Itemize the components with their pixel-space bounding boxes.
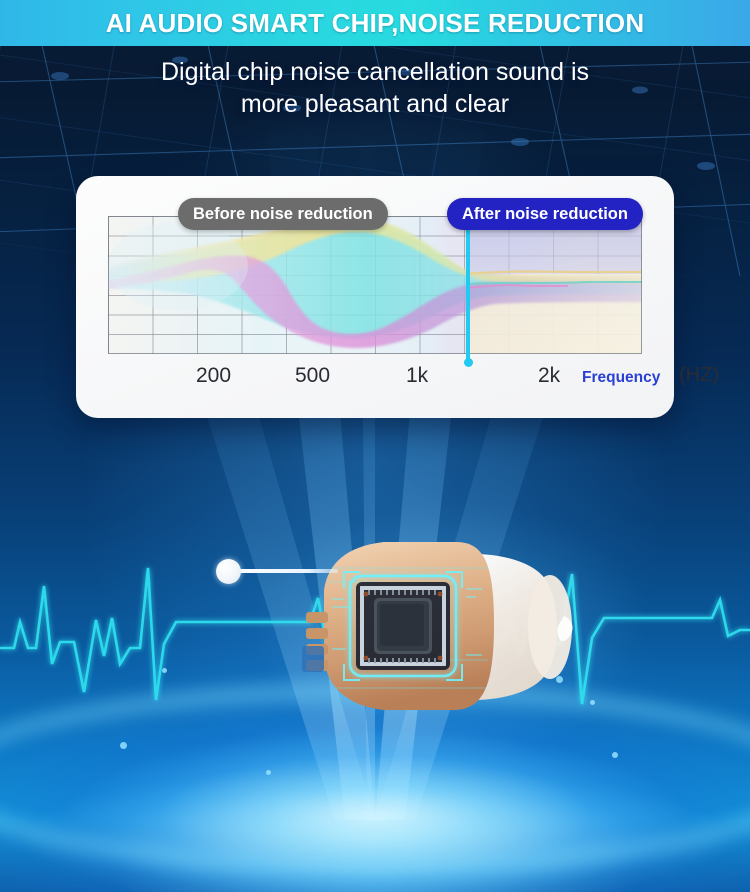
callout-line: [238, 569, 338, 573]
plot-border: [108, 216, 642, 354]
promo-banner: AI AUDIO SMART CHIP,NOISE REDUCTION Digi…: [0, 0, 750, 892]
subtitle-line-1: Digital chip noise cancellation sound is: [0, 56, 750, 88]
callout-dot: [216, 559, 241, 584]
subtitle-line-2: more pleasant and clear: [0, 88, 750, 120]
page-title: AI AUDIO SMART CHIP,NOISE REDUCTION: [106, 8, 645, 39]
badge-before-noise-reduction: Before noise reduction: [178, 198, 388, 230]
axis-tick-1k: 1k: [406, 364, 428, 388]
hearing-aid-device: [288, 528, 600, 724]
podium-ring-inner: [25, 774, 725, 892]
axis-tick-500: 500: [295, 364, 330, 388]
axis-frequency-label: Frequency: [582, 369, 660, 387]
noise-reduction-divider: [466, 210, 470, 362]
axis-tick-2k: 2k: [538, 364, 560, 388]
sparkle-dot: [120, 742, 127, 749]
axis-unit-label: (HZ): [679, 364, 719, 387]
x-axis-labels: 200 500 1k 2k Frequency (HZ): [76, 364, 674, 398]
sparkle-dot: [162, 668, 167, 673]
sparkle-dot: [612, 752, 618, 758]
axis-tick-200: 200: [196, 364, 231, 388]
badge-after-noise-reduction: After noise reduction: [447, 198, 643, 230]
header-bar: AI AUDIO SMART CHIP,NOISE REDUCTION: [0, 0, 750, 46]
subtitle: Digital chip noise cancellation sound is…: [0, 56, 750, 120]
sparkle-dot: [266, 770, 271, 775]
chart-plot-area: [108, 216, 642, 354]
